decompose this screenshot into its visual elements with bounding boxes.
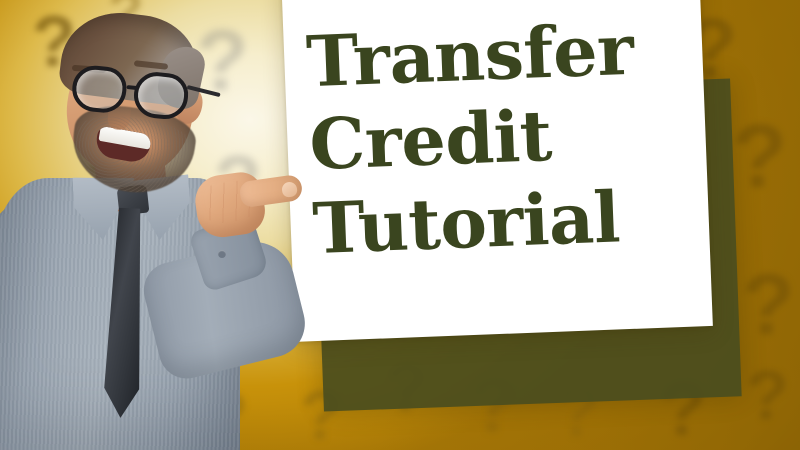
title-line-2: Credit (308, 101, 552, 180)
title-card-text: Transfer Credit Tutorial (305, 13, 694, 263)
thumbnail-stage: ????????????????????????? Transfer Credi… (0, 0, 800, 450)
title-line-3: Tutorial (312, 182, 621, 263)
title-card: Transfer Credit Tutorial (281, 0, 713, 342)
title-line-1: Transfer (305, 15, 634, 97)
